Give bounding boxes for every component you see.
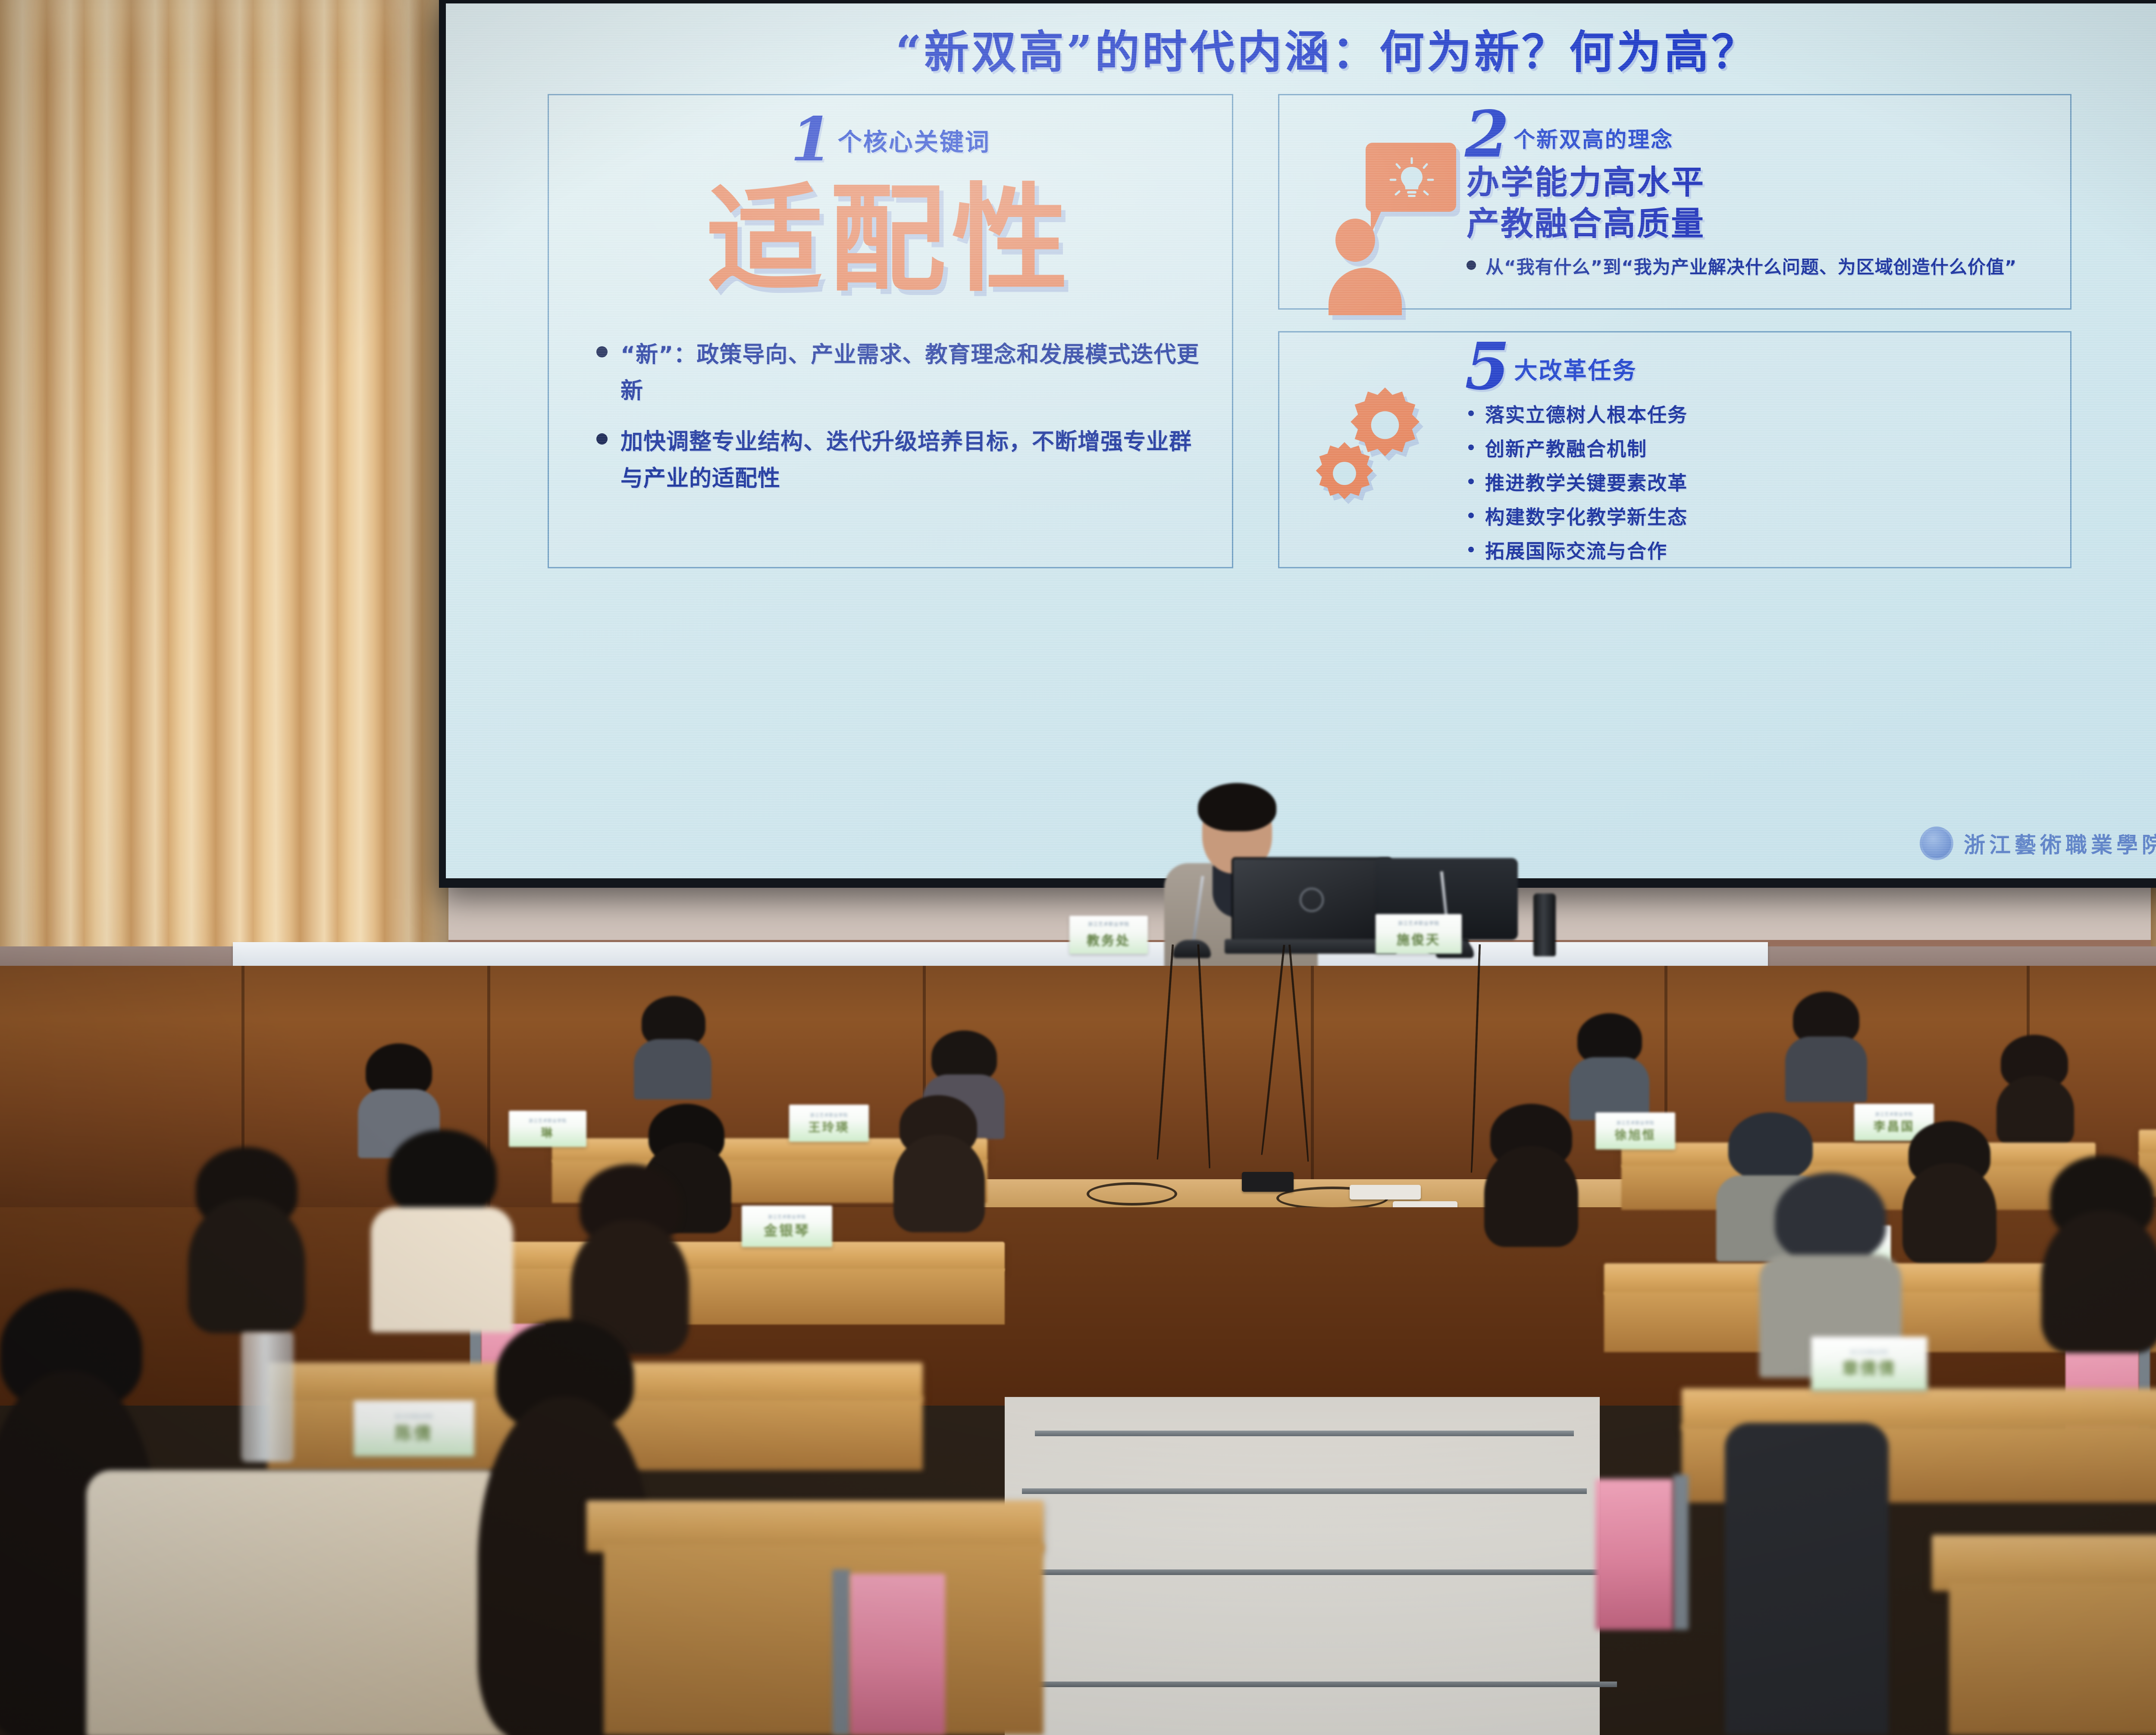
- concepts-number-label: 个新双高的理念: [1514, 122, 1673, 160]
- task-text: 落实立德树人根本任务: [1485, 399, 1688, 427]
- audience-desk: [453, 1242, 1005, 1272]
- university-logo: 浙江藝術職業學院: [1920, 827, 2156, 860]
- university-name: 浙江藝術職業學院: [1964, 828, 2156, 859]
- lightbulb-icon: [1388, 157, 1435, 205]
- placard-name: 金银琴: [764, 1220, 810, 1240]
- av-cable: [1157, 944, 1174, 1159]
- keyword-number: 1: [790, 115, 832, 165]
- audience-member: [1992, 1035, 2076, 1145]
- placard-org: 浙江艺术职业学院: [1850, 1349, 1888, 1355]
- audience-member: [86, 1470, 509, 1735]
- dell-logo-icon: [1300, 888, 1324, 912]
- projection-screen: “新双高”的时代内涵：何为新？何为高？ 1 个核心关键词 适配性 “新”：政策导…: [439, 0, 2156, 888]
- bullet-dot-icon: [1468, 410, 1474, 416]
- auditorium-scene: “新双高”的时代内涵：何为新？何为高？ 1 个核心关键词 适配性 “新”：政策导…: [0, 0, 2156, 1735]
- concepts-number: 2: [1465, 108, 1509, 160]
- bullet-text: “新”：政策导向、产业需求、教育理念和发展模式迭代更新: [620, 337, 1202, 409]
- audience-member: [181, 1147, 310, 1332]
- task-text: 创新产教融合机制: [1485, 433, 1647, 461]
- placard-org: 浙江艺术职业学院: [395, 1413, 433, 1419]
- av-cable: [1261, 945, 1285, 1155]
- keyword-number-label: 个核心关键词: [838, 123, 990, 165]
- audience-name-placard: 浙江艺术职业学院 章倩倩: [1811, 1337, 1927, 1391]
- audience-member: [1725, 1423, 1889, 1735]
- audience-name-placard: 浙江艺术职业学院 琳: [509, 1111, 586, 1147]
- slide-panel-tasks: 5 大改革任务 落实立德树人根本任务 创新产教融合机制: [1278, 331, 2071, 568]
- audience-member: [888, 1095, 987, 1233]
- task-text: 推进教学关键要素改革: [1485, 467, 1688, 495]
- water-bottle: [241, 1332, 293, 1462]
- audience-desk: [1621, 1143, 2096, 1168]
- bullet-dot-icon: [1467, 260, 1476, 270]
- bullet-text: 加快调整专业结构、迭代升级培养目标，不断增强专业群与产业的适配性: [620, 424, 1202, 496]
- list-item: 从“我有什么”到“我为产业解决什么问题、为区域创造什么价值”: [1467, 253, 2070, 282]
- placard-org: 浙江艺术职业学院: [1398, 920, 1439, 927]
- bullet-dot-icon: [1468, 547, 1474, 552]
- placard-org: 浙江艺术职业学院: [529, 1117, 567, 1124]
- placard-name: 章倩倩: [1842, 1355, 1896, 1379]
- placard-org: 浙江艺术职业学院: [768, 1213, 806, 1220]
- bullet-dot-icon: [1468, 445, 1474, 450]
- desk-front: [1949, 1582, 2156, 1735]
- audience-member: [1897, 1121, 2001, 1263]
- thermos-bottle: [1533, 893, 1556, 956]
- two-gears-icon: [1279, 332, 1460, 567]
- av-cable: [1197, 944, 1211, 1168]
- list-item: “新”：政策导向、产业需求、教育理念和发展模式迭代更新: [596, 337, 1202, 409]
- step-nosing: [1022, 1488, 1587, 1494]
- list-item: 构建数字化教学新生态: [1468, 501, 2070, 529]
- placard-name: 琳: [541, 1124, 555, 1140]
- list-item: 加快调整专业结构、迭代升级培养目标，不断增强专业群与产业的适配性: [596, 424, 1202, 496]
- presenter-laptop: [1232, 857, 1392, 943]
- bullet-dot-icon: [1468, 479, 1474, 484]
- audience-name-placard: 浙江艺术职业学院 金银琴: [742, 1206, 832, 1247]
- task-text: 构建数字化教学新生态: [1485, 501, 1688, 529]
- list-item: 推进教学关键要素改革: [1468, 467, 2070, 495]
- tasks-heading: 5 大改革任务: [1465, 340, 2070, 393]
- placard-name: 王玲瑛: [808, 1118, 849, 1135]
- step-nosing: [992, 1682, 1617, 1687]
- slide-panel-keyword: 1 个核心关键词 适配性 “新”：政策导向、产业需求、教育理念和发展模式迭代更新…: [548, 94, 1233, 568]
- microphone-base: [1173, 940, 1211, 958]
- placard-org: 浙江艺术职业学院: [1088, 921, 1129, 927]
- audience-name-placard: 浙江艺术职业学院 王玲瑛: [789, 1105, 869, 1142]
- bullet-dot-icon: [1468, 513, 1474, 518]
- bullet-dot-icon: [596, 433, 608, 445]
- list-item: 拓展国际交流与合作: [1468, 536, 2070, 564]
- av-cable: [1288, 945, 1310, 1162]
- presentation-slide: “新双高”的时代内涵：何为新？何为高？ 1 个核心关键词 适配性 “新”：政策导…: [446, 3, 2156, 878]
- bullet-text: 从“我有什么”到“我为产业解决什么问题、为区域创造什么价值”: [1485, 253, 2017, 282]
- concepts-slogan-line2: 产教融合高质量: [1467, 204, 2070, 243]
- placard-org: 浙江艺术职业学院: [810, 1112, 848, 1118]
- step-nosing: [1035, 1431, 1574, 1436]
- list-item: 创新产教融合机制: [1468, 433, 2070, 461]
- power-strip: [1350, 1185, 1421, 1199]
- audience-member: [1479, 1104, 1583, 1246]
- gear-icon: [1310, 439, 1379, 507]
- laptop-keyboard-base: [1225, 939, 1397, 954]
- step-nosing: [1005, 1569, 1604, 1575]
- audience-member: [1785, 992, 1867, 1099]
- list-item: 落实立德树人根本任务: [1468, 399, 2070, 427]
- seat-back: [850, 1574, 945, 1735]
- audience-name-placard: 浙江艺术职业学院 陈倩: [354, 1400, 474, 1456]
- keyword-heading: 1 个核心关键词: [549, 115, 1232, 165]
- placard-name: 教务处: [1087, 930, 1131, 949]
- placard-name: 施俊天: [1397, 929, 1441, 948]
- cable-coil: [1087, 1182, 1177, 1206]
- audience-name-placard: 浙江艺术职业学院 徐旭恒: [1595, 1112, 1675, 1149]
- placard-org: 浙江艺术职业学院: [1617, 1119, 1655, 1126]
- person-with-lightbulb-speech-bubble-icon: [1279, 95, 1460, 308]
- seat-frame: [1673, 1475, 1689, 1630]
- desk-front: [453, 1268, 1005, 1325]
- audience-member: [1570, 1013, 1649, 1117]
- slide-title: “新双高”的时代内涵：何为新？何为高？: [446, 16, 2156, 81]
- audience-member: [634, 996, 711, 1095]
- desk-front: [604, 1544, 1044, 1735]
- university-seal-icon: [1920, 827, 1953, 860]
- concepts-heading: 2 个新双高的理念: [1465, 108, 2070, 160]
- slide-panel-concepts: 2 个新双高的理念 办学能力高水平 产教融合高质量 从“我有什么”到“我为产业解…: [1278, 94, 2071, 310]
- placard-name: 徐旭恒: [1614, 1126, 1656, 1143]
- seat-frame: [832, 1569, 850, 1735]
- placard-name: 陈倩: [395, 1419, 433, 1444]
- department-placard: 浙江艺术职业学院 教务处: [1069, 916, 1148, 954]
- seat-back: [1595, 1479, 1673, 1630]
- concepts-slogan-line1: 办学能力高水平: [1467, 163, 2070, 202]
- keyword-bullet-list: “新”：政策导向、产业需求、教育理念和发展模式迭代更新 加快调整专业结构、迭代升…: [596, 337, 1202, 511]
- bullet-dot-icon: [596, 346, 608, 357]
- stage-curtain-left: [0, 0, 448, 1104]
- power-adapter: [1242, 1172, 1294, 1192]
- audience-desk: [2139, 1130, 2156, 1155]
- presenter-name-placard: 浙江艺术职业学院 施俊天: [1376, 914, 1462, 954]
- task-text: 拓展国际交流与合作: [1485, 536, 1667, 564]
- placard-org: 浙江艺术职业学院: [1875, 1111, 1913, 1117]
- core-keyword: 适配性: [549, 182, 1232, 298]
- audience-member: [2035, 1156, 2156, 1354]
- audience-member: [371, 1130, 513, 1332]
- tasks-number: 5: [1465, 340, 1510, 393]
- tasks-number-label: 大改革任务: [1514, 351, 1637, 393]
